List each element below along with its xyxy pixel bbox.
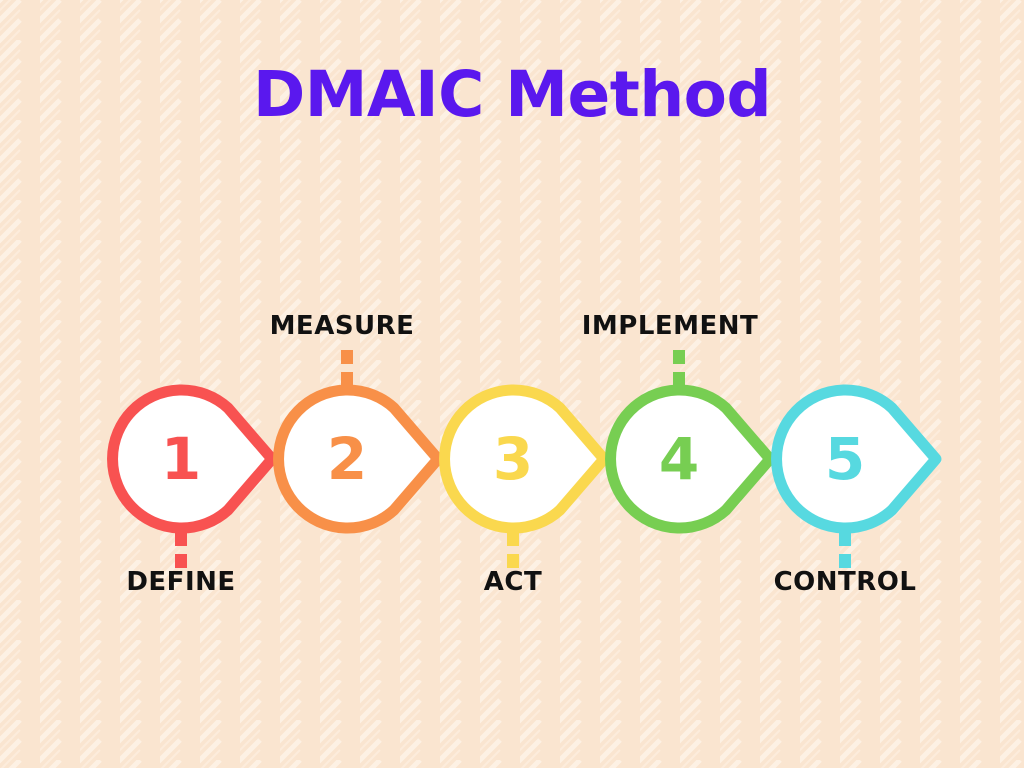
step-label-control: CONTROL	[774, 569, 917, 595]
step-number-3: 3	[493, 430, 533, 488]
step-label-implement: IMPLEMENT	[582, 313, 759, 339]
stem-dash-5	[839, 554, 851, 568]
step-label-measure: MEASURE	[270, 313, 415, 339]
stem-dash-3	[507, 554, 519, 568]
stem-dash-4	[673, 350, 685, 364]
stem-dash-1	[175, 554, 187, 568]
step-number-1: 1	[161, 430, 201, 488]
stem-segment-2	[341, 372, 353, 394]
stem-segment-3	[507, 524, 519, 546]
step-number-5: 5	[825, 430, 865, 488]
dmaic-process-diagram	[0, 0, 1024, 768]
stem-dash-2	[341, 350, 353, 364]
step-number-2: 2	[327, 430, 367, 488]
stem-segment-4	[673, 372, 685, 394]
stem-segment-1	[175, 524, 187, 546]
step-label-define: DEFINE	[126, 569, 235, 595]
slide-canvas: DMAIC Method	[0, 0, 1024, 768]
step-number-4: 4	[659, 430, 699, 488]
step-label-act: ACT	[484, 569, 542, 595]
stem-segment-5	[839, 524, 851, 546]
